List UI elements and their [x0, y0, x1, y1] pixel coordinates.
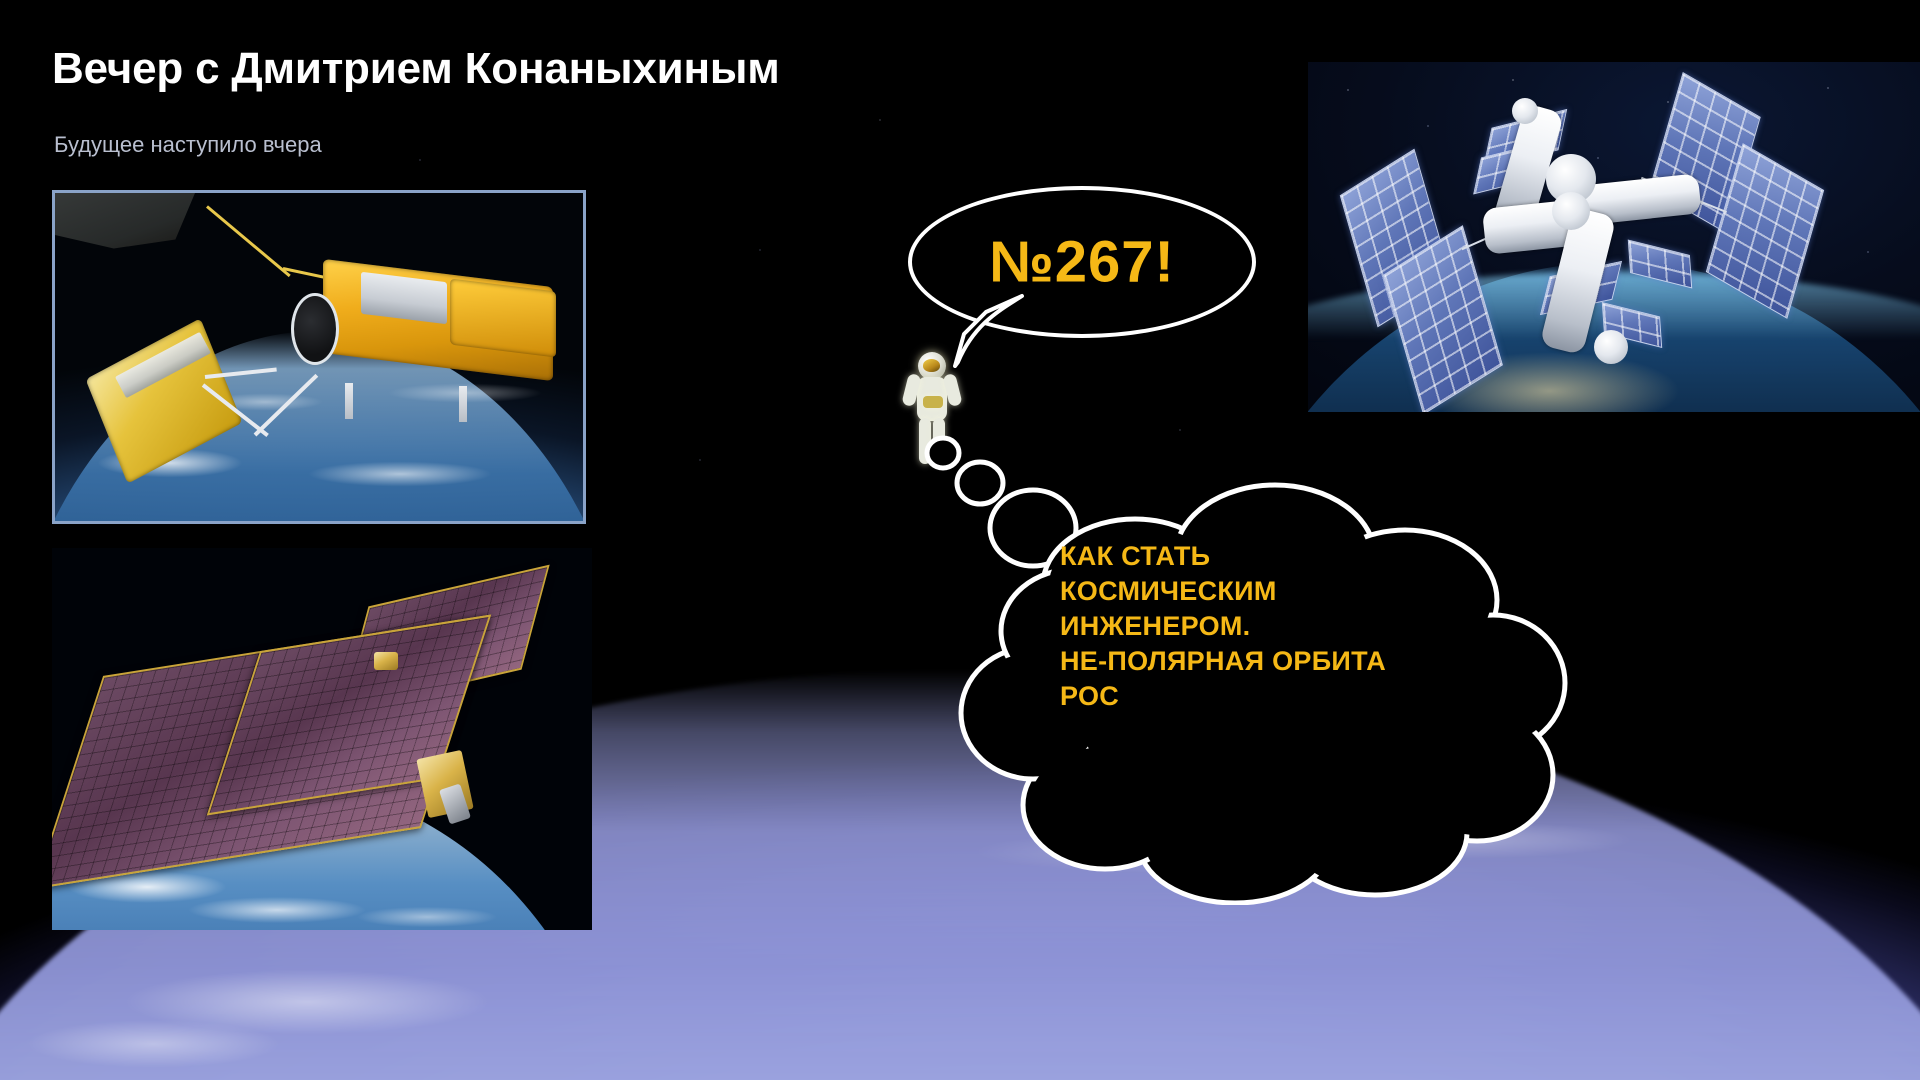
gold-satellite-photo	[52, 190, 586, 524]
satellite-hinge	[374, 652, 398, 670]
cloud-wisp	[352, 906, 502, 928]
satellite-aperture-ring	[291, 293, 339, 365]
page-tagline: Будущее наступило вчера	[54, 132, 322, 158]
cloud-wisp	[182, 896, 372, 924]
satellite-antenna-leg	[459, 386, 467, 422]
station-docking-node	[1512, 98, 1538, 124]
satellite-instrument-block	[450, 278, 556, 357]
episode-number: №267!	[908, 229, 1256, 296]
station-docking-node	[1594, 330, 1628, 364]
station-docking-node	[1552, 192, 1590, 230]
speech-bubble-tail	[952, 290, 1032, 368]
thought-cloud: КАК СТАТЬ КОСМИЧЕСКИМ ИНЖЕНЕРОМ. НЕ-ПОЛЯ…	[905, 435, 1605, 905]
page-title: Вечер с Дмитрием Конаныхиным	[52, 44, 780, 94]
slide-canvas: Вечер с Дмитрием Конаныхиным Будущее нас…	[0, 0, 1920, 1080]
space-station-photo	[1308, 62, 1920, 412]
speech-bubble: №267!	[908, 186, 1256, 338]
solar-panel-satellite-photo	[52, 548, 592, 930]
thought-cloud-text: КАК СТАТЬ КОСМИЧЕСКИМ ИНЖЕНЕРОМ. НЕ-ПОЛЯ…	[1060, 539, 1520, 714]
astronaut-chest-pack	[923, 396, 943, 408]
satellite-antenna-leg	[345, 383, 353, 419]
astronaut-visor	[923, 359, 940, 372]
